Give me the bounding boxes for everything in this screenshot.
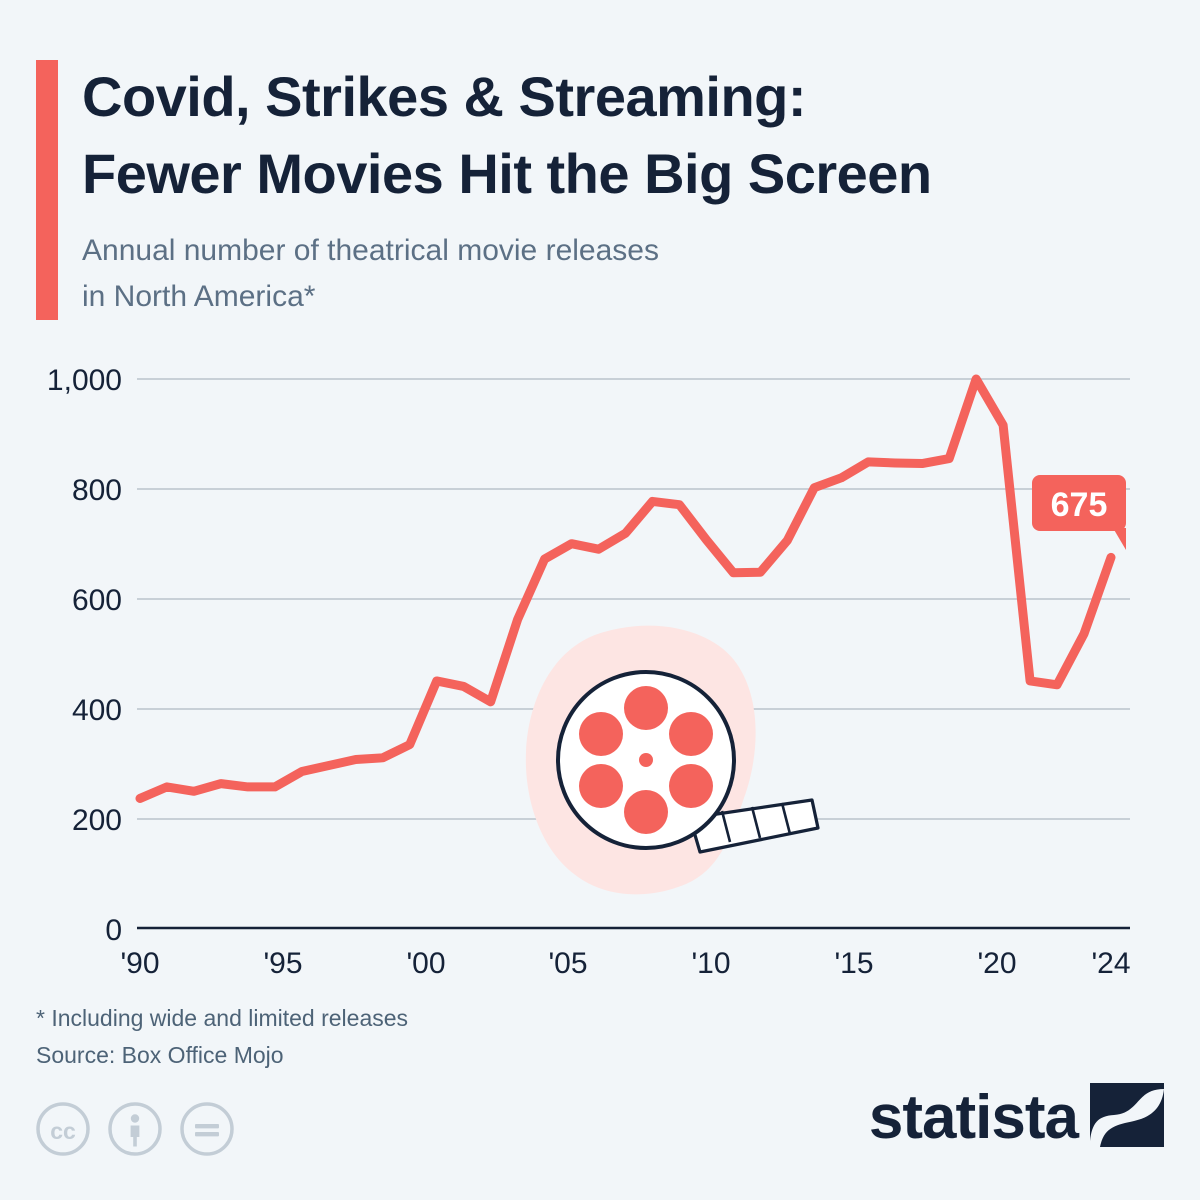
- x-tick-label: '24: [1091, 947, 1130, 980]
- page-subtitle: Annual number of theatrical movie releas…: [82, 228, 1082, 319]
- film-reel-hole: [579, 712, 623, 756]
- footnote-and-source: * Including wide and limited releases So…: [36, 1000, 408, 1075]
- y-tick-label: 600: [72, 584, 122, 617]
- film-reel-hole: [624, 790, 668, 834]
- x-tick-label: '05: [548, 947, 587, 980]
- film-reel-center: [639, 753, 653, 767]
- infographic-root: Covid, Strikes & Streaming: Fewer Movies…: [0, 0, 1200, 1200]
- film-reel-hole: [669, 764, 713, 808]
- y-tick-label: 200: [72, 804, 122, 837]
- y-tick-label: 400: [72, 694, 122, 727]
- film-reel-hole: [669, 712, 713, 756]
- y-tick-label: 1,000: [47, 364, 122, 397]
- film-reel-icon: [526, 626, 818, 895]
- y-axis-labels: 1,000 800 600 400 200 0: [47, 364, 122, 947]
- statista-logo[interactable]: statista: [869, 1083, 1164, 1152]
- page-title: Covid, Strikes & Streaming: Fewer Movies…: [82, 58, 1172, 213]
- line-chart: 1,000 800 600 400 200 0: [0, 350, 1200, 990]
- x-tick-label: '00: [406, 947, 445, 980]
- x-tick-label: '15: [834, 947, 873, 980]
- attribution-icon[interactable]: [106, 1100, 164, 1163]
- film-reel-hole: [624, 686, 668, 730]
- x-tick-label: '10: [691, 947, 730, 980]
- callout-tail: [1113, 528, 1126, 550]
- statista-mark-icon: [1090, 1083, 1164, 1152]
- y-tick-label: 0: [105, 914, 122, 947]
- statista-wordmark: statista: [869, 1087, 1078, 1149]
- x-tick-label: '90: [120, 947, 159, 980]
- no-derivatives-icon[interactable]: [178, 1100, 236, 1163]
- svg-text:cc: cc: [50, 1118, 76, 1144]
- header: Covid, Strikes & Streaming: Fewer Movies…: [0, 0, 1200, 340]
- x-tick-label: '95: [263, 947, 302, 980]
- accent-bar: [36, 60, 58, 320]
- data-callout-675: 675: [1032, 475, 1126, 550]
- x-axis-labels: '90 '95 '00 '05 '10 '15 '20 '24: [120, 947, 1130, 980]
- y-tick-label: 800: [72, 474, 122, 507]
- callout-value: 675: [1051, 486, 1108, 524]
- creative-commons-icon[interactable]: cc: [34, 1100, 92, 1163]
- x-tick-label: '20: [977, 947, 1016, 980]
- chart-area: 1,000 800 600 400 200 0: [0, 350, 1200, 990]
- creative-commons-license: cc: [34, 1100, 236, 1163]
- film-reel-hole: [579, 764, 623, 808]
- footer: * Including wide and limited releases So…: [0, 995, 1200, 1200]
